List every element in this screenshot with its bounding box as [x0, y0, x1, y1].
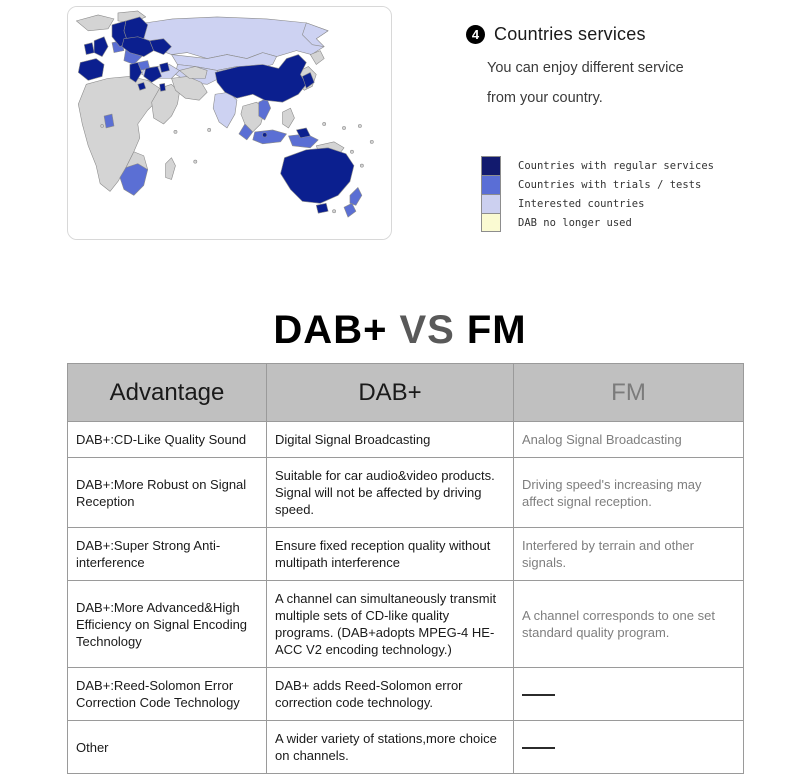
- empty-dash-icon: [522, 747, 555, 749]
- legend-swatch-interested-countries: [481, 194, 501, 213]
- table-body: DAB+:CD-Like Quality Sound Digital Signa…: [68, 422, 744, 774]
- map-legend: Countries with regular services Countrie…: [481, 156, 741, 232]
- table-row: DAB+:More Robust on Signal Reception Sui…: [68, 458, 744, 528]
- cell-fm: [514, 668, 744, 721]
- cell-fm: Analog Signal Broadcasting: [514, 422, 744, 458]
- world-map-panel: [67, 6, 392, 240]
- legend-item-interested-countries: Interested countries: [481, 194, 741, 213]
- column-header-dab: DAB+: [267, 364, 514, 422]
- cell-advantage: DAB+:CD-Like Quality Sound: [68, 422, 267, 458]
- legend-swatch-regular-services: [481, 156, 501, 175]
- cell-dab: Suitable for car audio&video products. S…: [267, 458, 514, 528]
- cell-dab: Digital Signal Broadcasting: [267, 422, 514, 458]
- comparison-title-fm: FM: [467, 308, 527, 352]
- cell-fm: [514, 721, 744, 774]
- cell-fm: A channel corresponds to one set standar…: [514, 581, 744, 668]
- cell-advantage: DAB+:Super Strong Anti-interference: [68, 528, 267, 581]
- column-header-advantage: Advantage: [68, 364, 267, 422]
- table-row: DAB+:More Advanced&High Efficiency on Si…: [68, 581, 744, 668]
- section-description: You can enjoy different service from you…: [466, 53, 786, 113]
- legend-item-no-longer-used: DAB no longer used: [481, 213, 741, 232]
- cell-fm: Interfered by terrain and other signals.: [514, 528, 744, 581]
- table-row: DAB+:Reed-Solomon Error Correction Code …: [68, 668, 744, 721]
- cell-fm: Driving speed's increasing may affect si…: [514, 458, 744, 528]
- legend-swatch-no-longer-used: [481, 213, 501, 232]
- column-header-fm: FM: [514, 364, 744, 422]
- legend-item-regular-services: Countries with regular services: [481, 156, 741, 175]
- comparison-title-vs: VS: [399, 308, 454, 352]
- section-info-block: 4 Countries services You can enjoy diffe…: [466, 24, 786, 113]
- cell-dab: DAB+ adds Reed-Solomon error correction …: [267, 668, 514, 721]
- description-line-1: You can enjoy different service: [487, 53, 786, 83]
- cell-advantage: DAB+:More Robust on Signal Reception: [68, 458, 267, 528]
- world-map-image: [68, 7, 391, 239]
- cell-advantage: Other: [68, 721, 267, 774]
- dab-vs-fm-comparison-table: Advantage DAB+ FM DAB+:CD-Like Quality S…: [67, 363, 744, 774]
- legend-label-interested-countries: Interested countries: [518, 198, 644, 210]
- table-row: DAB+:Super Strong Anti-interference Ensu…: [68, 528, 744, 581]
- cell-dab: A channel can simultaneously transmit mu…: [267, 581, 514, 668]
- cell-advantage: DAB+:More Advanced&High Efficiency on Si…: [68, 581, 267, 668]
- legend-label-no-longer-used: DAB no longer used: [518, 217, 632, 229]
- section-title: Countries services: [494, 24, 646, 45]
- legend-label-regular-services: Countries with regular services: [518, 160, 714, 172]
- comparison-title-dab: DAB+: [273, 308, 387, 352]
- comparison-title: DAB+VSFM: [0, 308, 800, 353]
- countries-services-section: 4 Countries services You can enjoy diffe…: [0, 0, 800, 260]
- table-row: Other A wider variety of stations,more c…: [68, 721, 744, 774]
- legend-item-trials-tests: Countries with trials / tests: [481, 175, 741, 194]
- empty-dash-icon: [522, 694, 555, 696]
- cell-dab: Ensure fixed reception quality without m…: [267, 528, 514, 581]
- legend-swatch-trials-tests: [481, 175, 501, 194]
- legend-label-trials-tests: Countries with trials / tests: [518, 179, 701, 191]
- cell-advantage: DAB+:Reed-Solomon Error Correction Code …: [68, 668, 267, 721]
- table-header-row: Advantage DAB+ FM: [68, 364, 744, 422]
- table-row: DAB+:CD-Like Quality Sound Digital Signa…: [68, 422, 744, 458]
- cell-dab: A wider variety of stations,more choice …: [267, 721, 514, 774]
- description-line-2: from your country.: [487, 83, 786, 113]
- step-number-badge: 4: [466, 25, 485, 44]
- section-heading: 4 Countries services: [466, 24, 786, 45]
